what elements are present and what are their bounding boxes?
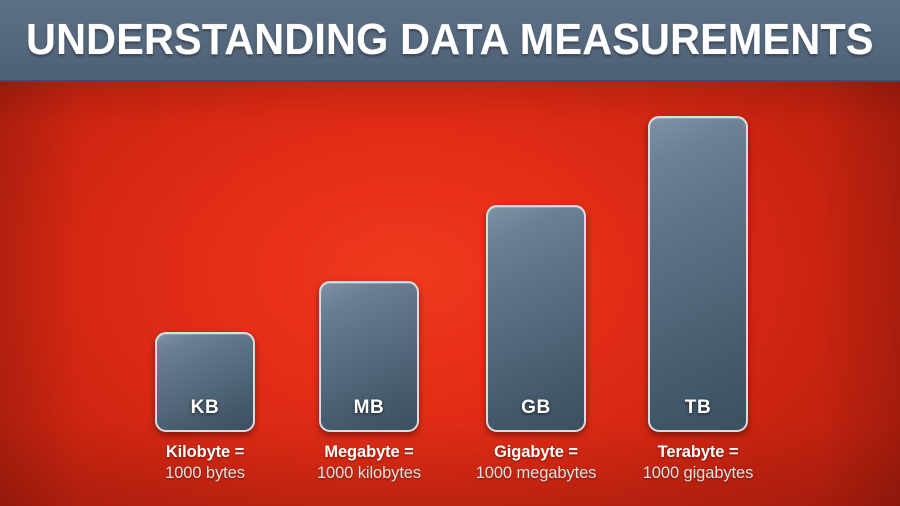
- page-title: UNDERSTANDING DATA MEASUREMENTS: [26, 18, 874, 62]
- bar-gb[interactable]: GB: [486, 205, 586, 432]
- bar-chart: KB Kilobyte = 1000 bytes MB Megabyte = 1…: [0, 82, 900, 506]
- bar-caption-tb: Terabyte = 1000 gigabytes: [623, 442, 773, 484]
- bar-caption-value-kb: 1000 bytes: [130, 463, 280, 484]
- bar-kb[interactable]: KB: [155, 332, 255, 432]
- bar-caption-value-tb: 1000 gigabytes: [623, 463, 773, 484]
- bar-caption-kb: Kilobyte = 1000 bytes: [130, 442, 280, 484]
- bar-caption-name-kb: Kilobyte =: [130, 442, 280, 463]
- bar-caption-name-gb: Gigabyte =: [461, 442, 611, 463]
- title-banner: UNDERSTANDING DATA MEASUREMENTS: [0, 0, 900, 82]
- bar-caption-value-gb: 1000 megabytes: [461, 463, 611, 484]
- bar-caption-value-mb: 1000 kilobytes: [294, 463, 444, 484]
- bar-caption-mb: Megabyte = 1000 kilobytes: [294, 442, 444, 484]
- slide-canvas: UNDERSTANDING DATA MEASUREMENTS KB Kilob…: [0, 0, 900, 506]
- bar-abbr-mb: MB: [354, 397, 385, 419]
- bar-abbr-tb: TB: [685, 397, 712, 419]
- bar-mb[interactable]: MB: [319, 281, 419, 432]
- bar-caption-name-tb: Terabyte =: [623, 442, 773, 463]
- bar-abbr-gb: GB: [521, 397, 551, 419]
- bar-tb[interactable]: TB: [648, 116, 748, 432]
- bar-abbr-kb: KB: [191, 397, 220, 419]
- bar-caption-name-mb: Megabyte =: [294, 442, 444, 463]
- bar-caption-gb: Gigabyte = 1000 megabytes: [461, 442, 611, 484]
